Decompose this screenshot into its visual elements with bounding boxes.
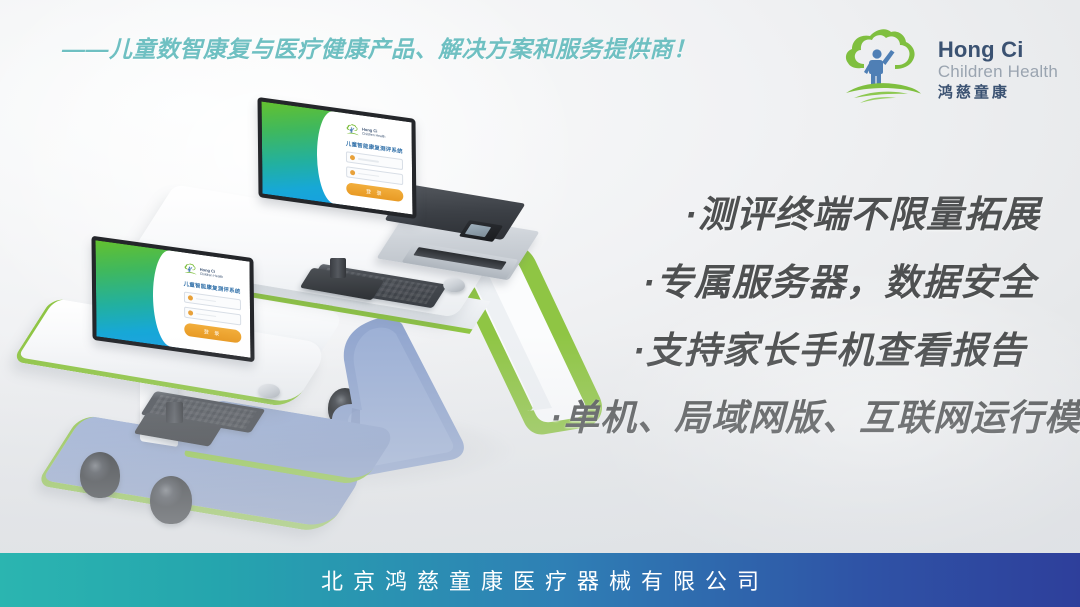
brand-logo-text: Hong Ci Children Health 鸿慈童康	[938, 30, 1058, 103]
lock-icon	[188, 310, 193, 316]
login-brand-text: Hong Ci Children Health	[200, 266, 223, 279]
login-panel: Hong Ci Children Health 儿童智能康复测评系统	[343, 113, 413, 215]
login-submit-button[interactable]: 登 录	[346, 182, 403, 202]
monitor-stand-neck	[166, 402, 183, 423]
login-submit-button[interactable]: 登 录	[184, 323, 241, 344]
company-name: 北京鸿慈童康医疗器械有限公司	[311, 564, 769, 596]
feature-bullet-4: ·单机、局域网版、互联网运行模式	[550, 400, 1070, 436]
page-headline: ——儿童数智康复与医疗健康产品、解决方案和服务提供商！	[62, 30, 697, 64]
brand-logo: Hong Ci Children Health 鸿慈童康	[840, 24, 1058, 108]
monitor-screen: Hong Ci Children Health 儿童智能康复测评系统	[91, 236, 254, 363]
lock-icon	[351, 170, 356, 176]
brand-name-en-primary: Hong Ci	[938, 38, 1058, 61]
footer-bar: 北京鸿慈童康医疗器械有限公司	[0, 553, 1080, 607]
login-username-placeholder	[358, 158, 379, 162]
user-icon	[350, 155, 355, 161]
monitor-screen: Hong Ci Children Health 儿童智能康复测评系统	[257, 97, 416, 219]
monitor-back: Hong Ci Children Health 儿童智能康复测评系统	[258, 108, 416, 208]
user-icon	[188, 295, 193, 301]
brand-name-cn: 鸿慈童康	[938, 83, 1058, 103]
login-wave-divider	[152, 248, 182, 348]
login-password-placeholder	[196, 313, 217, 317]
feature-bullet-2: ·专属服务器，数据安全	[550, 264, 1036, 301]
tree-child-logo-icon	[346, 122, 360, 138]
feature-bullet-list: ·测评终端不限量拓展 ·专属服务器，数据安全 ·支持家长手机查看报告 ·单机、局…	[550, 196, 1070, 467]
login-background-gradient	[262, 102, 344, 205]
monitor-front: Hong Ci Children Health 儿童智能康复测评系统	[92, 247, 254, 351]
slide-canvas: ——儿童数智康复与医疗健康产品、解决方案和服务提供商！ Hong	[0, 0, 1080, 607]
login-wave-divider	[316, 109, 345, 205]
monitor-stand-neck	[330, 258, 346, 278]
caster-wheel	[150, 476, 192, 524]
tree-child-logo-icon	[183, 262, 197, 278]
feature-bullet-3: ·支持家长手机查看报告	[550, 332, 1026, 369]
login-password-field[interactable]	[346, 166, 403, 185]
tree-child-logo-icon	[840, 24, 928, 108]
login-brand-text: Hong Ci Children Health	[362, 127, 385, 140]
login-password-placeholder	[358, 173, 379, 177]
brand-name-en-secondary: Children Health	[938, 61, 1058, 82]
login-panel: Hong Ci Children Health 儿童智能康复测评系统	[180, 252, 250, 358]
feature-bullet-1: ·测评终端不限量拓展	[550, 196, 1040, 233]
login-username-placeholder	[196, 298, 217, 302]
caster-wheel	[80, 452, 120, 498]
login-background-gradient	[96, 240, 182, 348]
